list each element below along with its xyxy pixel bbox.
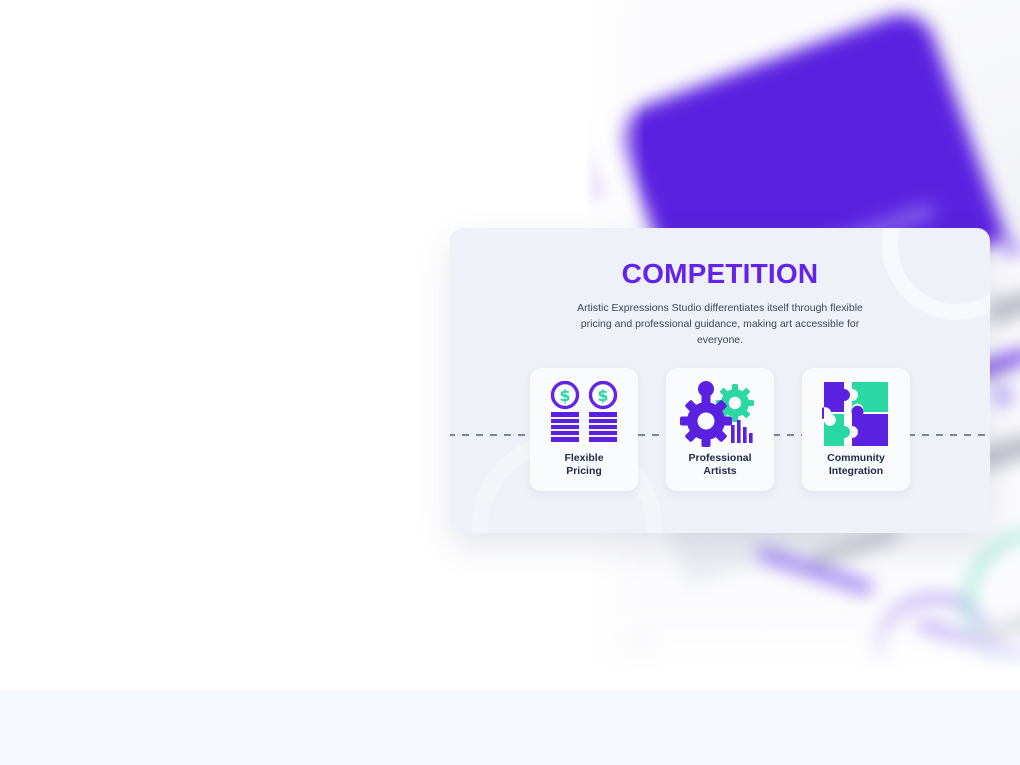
label-line-1: Flexible [564, 452, 603, 464]
label-line-2: Artists [703, 465, 736, 477]
svg-text:$: $ [597, 386, 608, 405]
left-content-column [0, 0, 470, 690]
coin-stacks-icon: $ $ [530, 378, 638, 450]
connector-dash-left [450, 434, 540, 436]
label-line-2: Integration [829, 465, 883, 477]
svg-text:$: $ [559, 386, 570, 405]
bottom-band [0, 690, 1020, 765]
label-line-1: Professional [688, 452, 751, 464]
gears-lightbulb-chart-icon [666, 378, 774, 450]
slide-preview-card[interactable]: COMPETITION Artistic Expressions Studio … [450, 228, 990, 533]
slide-title: COMPETITION [450, 258, 990, 290]
label-line-1: Community [827, 452, 885, 464]
background-bottom-fade [585, 600, 1020, 695]
slide-subtitle: Artistic Expressions Studio differentiat… [570, 301, 870, 348]
connector-dash-right [908, 434, 990, 436]
puzzle-pieces-icon [802, 378, 910, 450]
feature-card-label: Professional Artists [666, 452, 774, 479]
slide-preview-page: READY Business Plans Competition Identif… [0, 0, 1020, 765]
feature-card-community-integration[interactable]: Community Integration [802, 368, 910, 491]
feature-card-professional-artists[interactable]: Professional Artists [666, 368, 774, 491]
feature-card-label: Flexible Pricing [530, 452, 638, 479]
feature-card-flexible-pricing[interactable]: $ $ [530, 368, 638, 491]
feature-card-label: Community Integration [802, 452, 910, 479]
label-line-2: Pricing [566, 465, 602, 477]
